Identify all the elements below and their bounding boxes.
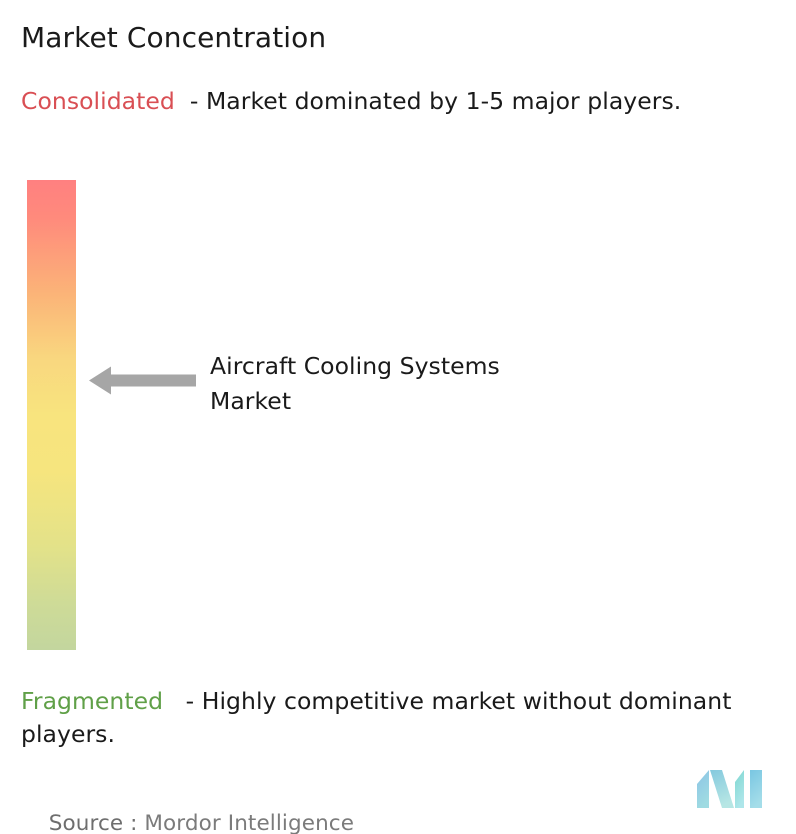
legend-separator-bottom: - (163, 687, 202, 715)
source-label: Source : (49, 811, 145, 834)
mordor-intelligence-logo (697, 768, 773, 808)
marker-label-line-1: Aircraft Cooling Systems (210, 349, 640, 384)
arrow-left-icon (89, 366, 196, 395)
legend-term-fragmented: Fragmented (21, 687, 163, 715)
concentration-scale-bar (27, 180, 76, 650)
legend-description-consolidated: Market dominated by 1-5 major players. (206, 87, 681, 115)
marker-label: Aircraft Cooling Systems Market (210, 349, 640, 419)
source-attribution: Source : Mordor Intelligence (21, 782, 354, 834)
market-concentration-infographic: Market Concentration Consolidated - Mark… (0, 0, 796, 834)
page-title: Market Concentration (21, 19, 721, 57)
legend-term-consolidated: Consolidated (21, 87, 175, 115)
legend-separator-top: - (175, 87, 206, 115)
legend-fragmented: Fragmented - Highly competitive market w… (21, 685, 793, 751)
marker-label-line-2: Market (210, 384, 640, 419)
source-value: Mordor Intelligence (144, 811, 354, 834)
legend-consolidated: Consolidated - Market dominated by 1-5 m… (21, 85, 781, 118)
